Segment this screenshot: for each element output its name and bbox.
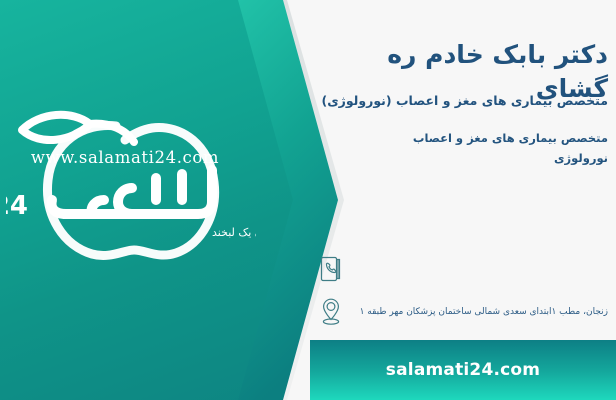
doctor-specialty-sub-line2: نورولوژی [316,148,608,168]
footer-website[interactable]: salamati24.com [386,360,540,380]
contact-row-address[interactable]: زنجان، مطب ۱ابتدای سعدی شمالی ساختمان پز… [316,290,608,334]
doctor-profile-card: 24 به راحتی یک لبخند www.salamati24.com … [0,0,616,400]
address-value: زنجان، مطب ۱ابتدای سعدی شمالی ساختمان پز… [356,305,608,319]
logo-number-24: 24 [6,191,28,221]
phone-value [356,263,608,275]
salamati24-logo: 24 به راحتی یک لبخند [6,96,256,276]
doctor-specialty-sub: متخصص بیماری های مغز و اعصاب نورولوژی [316,128,608,168]
contact-row-phone[interactable] [316,250,608,288]
logo-tagline: به راحتی یک لبخند [212,226,256,239]
doctor-specialty-main: متخصص بیماری های مغز و اعصاب (نورولوژی) [316,92,608,111]
doctor-specialty-sub-line1: متخصص بیماری های مغز و اعصاب [316,128,608,148]
phone-book-icon [316,252,346,286]
logo-website-url[interactable]: www.salamati24.com [0,148,250,167]
map-pin-icon [316,295,346,329]
footer-bar: salamati24.com [310,340,616,400]
